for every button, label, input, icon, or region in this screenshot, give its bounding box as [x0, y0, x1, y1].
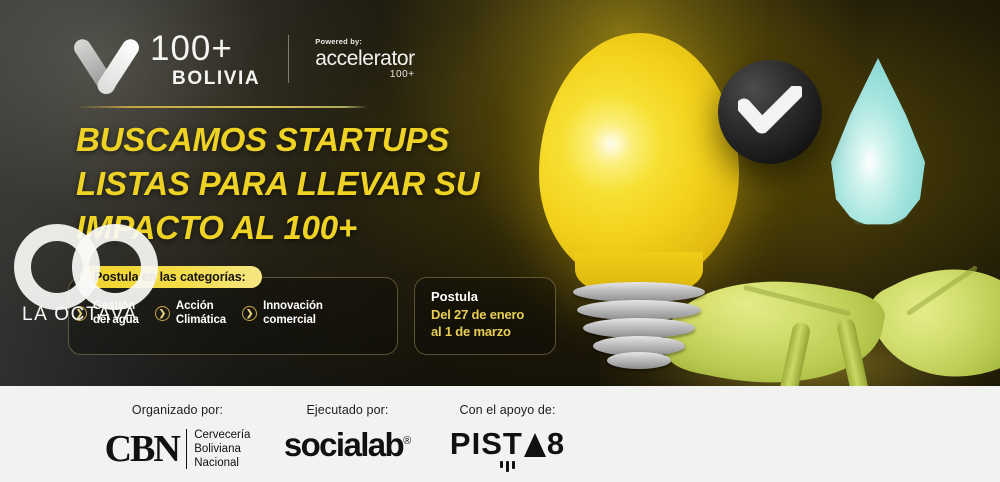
dates-title: Postula: [431, 288, 555, 306]
socialab-logo: socialab®: [284, 428, 411, 461]
brand-logo-number: 100+: [150, 31, 260, 66]
footer-section: Organizado por: CBN Cervecería Boliviana…: [0, 386, 1000, 482]
category-item-gestion-del-agua[interactable]: ❯ Gestión del agua: [72, 299, 139, 328]
category-label: Innovación comercial: [263, 299, 323, 328]
header-divider: [78, 106, 368, 108]
powered-by-label: Powered by:: [315, 38, 414, 46]
headline-line-1: BUSCAMOS STARTUPS: [76, 118, 546, 162]
powered-by-suffix: 100+: [390, 70, 415, 80]
category-label-line-2: del agua: [93, 313, 139, 327]
category-item-innovacion-comercial[interactable]: ❯ Innovación comercial: [242, 299, 323, 328]
powered-by-name: accelerator: [315, 48, 414, 69]
pista8-logo-pre: PIST: [450, 428, 523, 459]
cbn-logo-letters: CBN: [105, 430, 179, 468]
chevron-right-icon: ❯: [72, 306, 87, 321]
category-label-line-1: Innovación: [263, 299, 323, 313]
a-arrow-logo-icon: [78, 28, 136, 90]
cbn-logo-divider: [186, 429, 187, 469]
categories-list: ❯ Gestión del agua ❯ Acción Climática ❯ …: [72, 299, 323, 328]
logo-divider: [288, 35, 289, 83]
page-title: BUSCAMOS STARTUPS LISTAS PARA LLEVAR SU …: [76, 118, 546, 250]
footer-support-by: Con el apoyo de: PIST 8: [400, 403, 615, 472]
socialab-logo-text: socialab: [284, 426, 403, 463]
category-label: Gestión del agua: [93, 299, 139, 328]
category-label-line-1: Gestión: [93, 299, 139, 313]
pista8-logo: PIST 8: [400, 428, 615, 459]
dates-line-2: al 1 de marzo: [431, 323, 555, 341]
headline-line-2: LISTAS PARA LLEVAR SU: [76, 162, 546, 206]
promo-banner: 100+ BOLIVIA Powered by: accelerator 100…: [0, 0, 1000, 482]
tick-bar: [506, 461, 509, 472]
categories-pill-label: Postula en las categorías:: [80, 266, 262, 288]
brand-logo-text: 100+ BOLIVIA: [150, 31, 260, 88]
brand-logo-country: BOLIVIA: [172, 69, 260, 88]
chevron-right-icon: ❯: [155, 306, 170, 321]
headline-line-3: IMPACTO AL 100+: [76, 206, 546, 250]
chevron-right-icon: ❯: [242, 306, 257, 321]
footer-caption-support: Con el apoyo de:: [400, 403, 615, 417]
category-label-line-2: comercial: [263, 313, 323, 327]
dates-line-1: Del 27 de enero: [431, 306, 555, 324]
category-label: Acción Climática: [176, 299, 226, 328]
pista8-logo-ticks: [400, 461, 615, 472]
tick-bar: [512, 461, 515, 469]
category-item-accion-climatica[interactable]: ❯ Acción Climática: [155, 299, 226, 328]
up-arrow-icon: [524, 433, 546, 457]
pista8-logo-post: 8: [547, 428, 565, 459]
category-label-line-1: Acción: [176, 299, 226, 313]
application-dates-box: Postula Del 27 de enero al 1 de marzo: [414, 277, 556, 355]
brand-logo-row: 100+ BOLIVIA Powered by: accelerator 100…: [78, 28, 415, 90]
category-label-line-2: Climática: [176, 313, 226, 327]
tick-bar: [500, 461, 503, 468]
powered-by-block: Powered by: accelerator 100+: [315, 38, 414, 81]
